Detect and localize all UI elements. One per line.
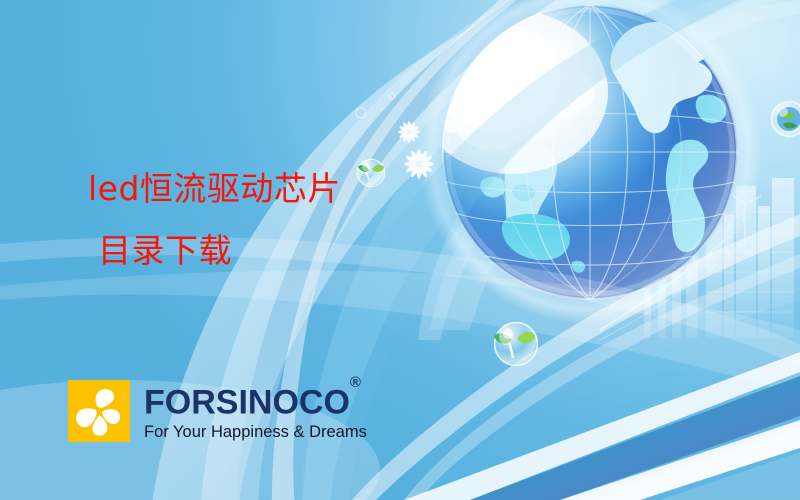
logo-name-text: FORSINOCO <box>144 383 350 421</box>
registered-trademark-icon: ® <box>350 374 361 391</box>
sheen-band <box>0 271 800 396</box>
bubble-globe-corner <box>771 101 800 137</box>
logo-tagline: For Your Happiness & Dreams <box>144 422 367 442</box>
bubble-tiny <box>356 93 395 118</box>
earth-globe <box>416 0 762 324</box>
corner-arcs <box>418 0 800 340</box>
headline-line-1: led恒流驱动芯片 <box>0 158 420 220</box>
company-logo: FORSINOCO® For Your Happiness & Dreams <box>68 380 367 442</box>
clover-logo-icon <box>68 380 130 442</box>
bubble-sprout-large <box>494 322 538 366</box>
promo-banner: led恒流驱动芯片 目录下载 FORSINOCO® For Your Happi… <box>0 0 800 500</box>
city-skyline-silhouette <box>596 178 794 342</box>
headline-line-2: 目录下载 <box>0 220 420 282</box>
headline-block: led恒流驱动芯片 目录下载 <box>0 158 420 282</box>
logo-text-block: FORSINOCO® For Your Happiness & Dreams <box>144 380 367 442</box>
logo-company-name: FORSINOCO® <box>144 380 367 419</box>
